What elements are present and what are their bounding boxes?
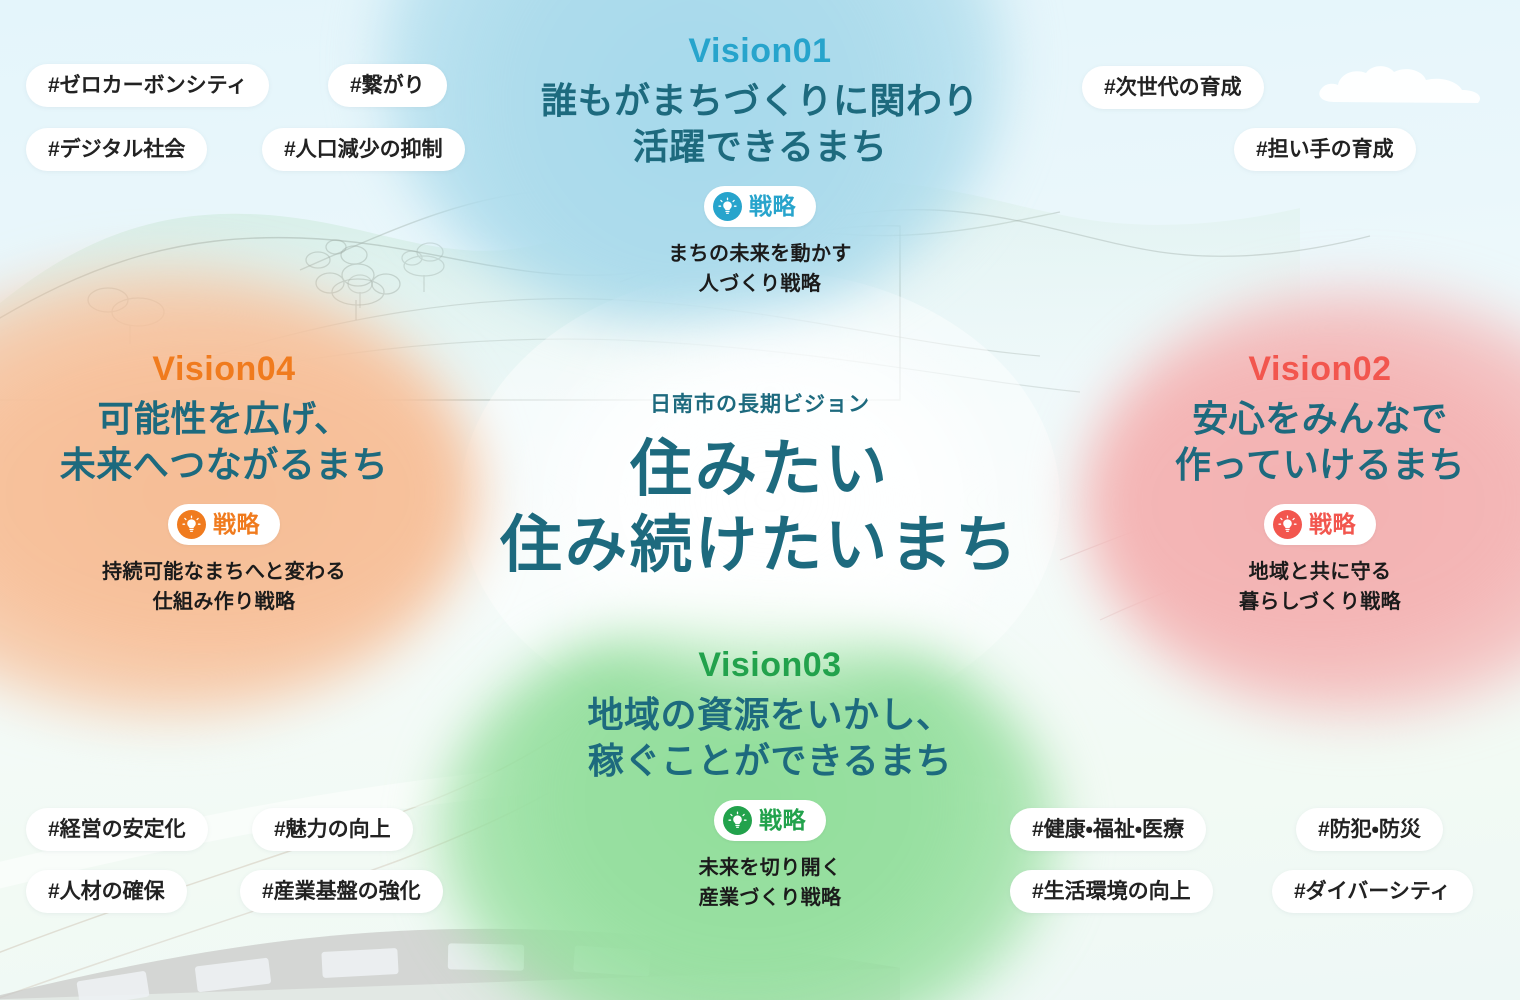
vision-infographic: Vision01 誰もがまちづくりに関わり 活躍できるまち — [0, 0, 1520, 1000]
strategy-line2: 仕組み作り戦略 — [0, 587, 454, 617]
vision-number-01: Vision01 — [440, 34, 1080, 68]
lightbulb-icon — [1273, 510, 1302, 539]
vision-card-02: Vision02 安心をみんなで 作っていけるまち — [1120, 352, 1520, 617]
hashtag-pill-top-right-0[interactable]: #次世代の育成 — [1082, 66, 1264, 109]
hashtag-pill-bottom-right-1[interactable]: #防犯・防災 — [1296, 808, 1443, 851]
hashtag-pill-top-left-0[interactable]: #ゼロカーボンシティ — [26, 64, 269, 107]
vision-strategy-02: 地域と共に守る 暮らしづくり戦略 — [1120, 557, 1520, 617]
strategy-line1: 持続可能なまちへと変わる — [0, 557, 454, 587]
hashtag-pill-top-right-1[interactable]: #担い手の育成 — [1234, 128, 1416, 171]
vision-title-line1: 安心をみんなで — [1120, 396, 1520, 442]
vision-title-04: 可能性を広げ、 未来へつながるまち — [0, 396, 454, 488]
center-vision-block: 日南市の長期ビジョン 住みたい 住み続けたいまち — [460, 388, 1060, 583]
strategy-badge-label: 戦略 — [759, 809, 806, 832]
vision-title-02: 安心をみんなで 作っていけるまち — [1120, 396, 1520, 488]
hashtag-pill-bottom-right-2[interactable]: #生活環境の向上 — [1010, 870, 1213, 913]
hashtag-pill-bottom-left-1[interactable]: #魅力の向上 — [252, 808, 413, 851]
cloud-decoration — [1316, 62, 1484, 110]
hashtag-pill-bottom-left-0[interactable]: #経営の安定化 — [26, 808, 208, 851]
vision-title-01: 誰もがまちづくりに関わり 活躍できるまち — [440, 78, 1080, 170]
center-title: 住みたい 住み続けたいまち — [460, 432, 1060, 583]
vision-card-04: Vision04 可能性を広げ、 未来へつながるまち — [0, 352, 454, 617]
vision-title-line1: 誰もがまちづくりに関わり — [440, 78, 1080, 124]
strategy-badge-label: 戦略 — [213, 513, 260, 536]
lightbulb-icon — [723, 806, 752, 835]
lightbulb-icon — [713, 192, 742, 221]
hashtag-pill-bottom-left-3[interactable]: #産業基盤の強化 — [240, 870, 443, 913]
strategy-badge-02: 戦略 — [1264, 504, 1376, 545]
strategy-line1: まちの未来を動かす — [440, 239, 1080, 269]
vision-card-03: Vision03 地域の資源をいかし、 稼ぐことができるまち — [500, 648, 1040, 913]
vision-title-03: 地域の資源をいかし、 稼ぐことができるまち — [500, 692, 1040, 784]
vision-title-line2: 未来へつながるまち — [0, 442, 454, 488]
vision-number-04: Vision04 — [0, 352, 454, 386]
vision-number-03: Vision03 — [500, 648, 1040, 682]
hashtag-pill-bottom-left-2[interactable]: #人材の確保 — [26, 870, 187, 913]
hashtag-pill-bottom-right-3[interactable]: #ダイバーシティ — [1272, 870, 1473, 913]
vision-title-line1: 地域の資源をいかし、 — [500, 692, 1040, 738]
strategy-line1: 地域と共に守る — [1120, 557, 1520, 587]
hashtag-pill-bottom-right-0[interactable]: #健康・福祉・医療 — [1010, 808, 1206, 851]
vision-card-01: Vision01 誰もがまちづくりに関わり 活躍できるまち — [440, 34, 1080, 299]
vision-title-line1: 可能性を広げ、 — [0, 396, 454, 442]
strategy-line1: 未来を切り開く — [500, 853, 1040, 883]
strategy-badge-03: 戦略 — [714, 800, 826, 841]
strategy-line2: 暮らしづくり戦略 — [1120, 587, 1520, 617]
center-title-line1: 住みたい — [460, 432, 1060, 508]
vision-strategy-04: 持続可能なまちへと変わる 仕組み作り戦略 — [0, 557, 454, 617]
hashtag-pill-top-left-3[interactable]: #人口減少の抑制 — [262, 128, 465, 171]
center-subtitle: 日南市の長期ビジョン — [460, 388, 1060, 418]
strategy-badge-label: 戦略 — [749, 195, 796, 218]
hashtag-pill-top-left-2[interactable]: #デジタル社会 — [26, 128, 207, 171]
strategy-badge-label: 戦略 — [1309, 513, 1356, 536]
vision-title-line2: 作っていけるまち — [1120, 442, 1520, 488]
strategy-badge-04: 戦略 — [168, 504, 280, 545]
strategy-badge-01: 戦略 — [704, 186, 816, 227]
center-title-line2: 住み続けたいまち — [460, 508, 1060, 584]
strategy-line2: 人づくり戦略 — [440, 269, 1080, 299]
vision-strategy-03: 未来を切り開く 産業づくり戦略 — [500, 853, 1040, 913]
lightbulb-icon — [177, 510, 206, 539]
vision-title-line2: 稼ぐことができるまち — [500, 738, 1040, 784]
vision-title-line2: 活躍できるまち — [440, 124, 1080, 170]
vision-number-02: Vision02 — [1120, 352, 1520, 386]
strategy-line2: 産業づくり戦略 — [500, 883, 1040, 913]
vision-strategy-01: まちの未来を動かす 人づくり戦略 — [440, 239, 1080, 299]
hashtag-pill-top-left-1[interactable]: #繋がり — [328, 64, 447, 107]
